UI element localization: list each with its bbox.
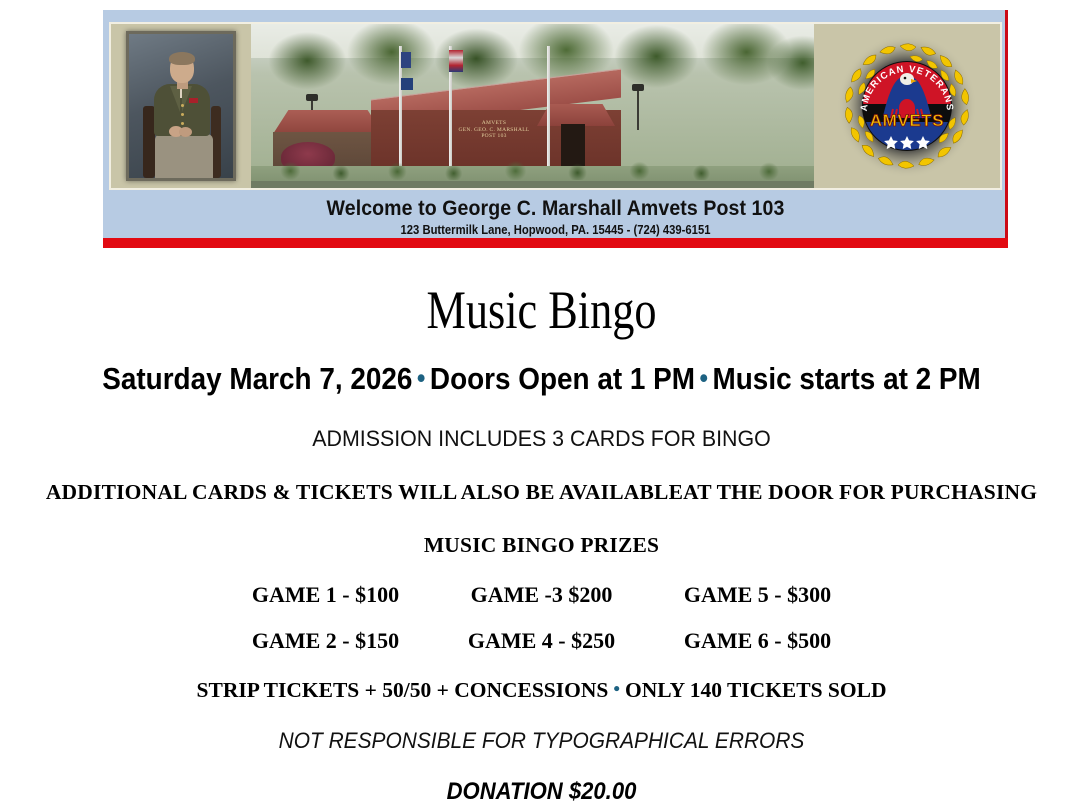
donation-amount: DONATION $20.00 [43,777,1039,807]
portrait-medal-ribbon [189,98,198,103]
prize-row: GAME 1 - $100 GAME -3 $200 GAME 5 - $300 [0,583,1083,607]
roof-left-shape [273,110,383,134]
shrub-row-shape [251,150,814,180]
event-date: Saturday March 7, 2026 [102,361,412,396]
prize-cell: GAME -3 $200 [434,583,650,607]
event-title: Music Bingo [97,280,985,340]
event-schedule-line: Saturday March 7, 2026•Doors Open at 1 P… [54,358,1029,399]
tickets-sold-text: ONLY 140 TICKETS SOLD [625,678,886,702]
prizes-heading: MUSIC BINGO PRIZES [0,532,1083,559]
lamp-post-right [637,88,639,130]
disclaimer-note: NOT RESPONSIBLE FOR TYPOGRAPHICAL ERRORS [27,727,1056,755]
flag-blue-upper [401,52,411,68]
portrait-pane [111,24,251,188]
strip-tickets-text: STRIP TICKETS + 50/50 + CONCESSIONS [197,678,609,702]
prize-cell: GAME 6 - $500 [650,629,866,653]
building-wall-sign: AMVETS GEN. GEO. C. MARSHALL POST 103 [446,120,542,140]
post-address: 123 Buttermilk Lane, Hopwood, PA. 15445 … [148,222,963,238]
bullet-separator-icon: • [608,679,625,700]
logo-pane: AMERICAN VETERANS AMVETS [814,24,1000,188]
prize-cell: GAME 5 - $300 [650,583,866,607]
additional-cards-note: ADDITIONAL CARDS & TICKETS WILL ALSO BE … [0,479,1083,506]
curb-shape [251,181,814,188]
bullet-separator-icon: • [695,363,713,393]
marshall-portrait-image [126,31,236,181]
prize-table: GAME 1 - $100 GAME -3 $200 GAME 5 - $300… [0,583,1083,653]
amvets-wordmark: AMVETS [870,111,944,130]
site-banner: AMVETS GEN. GEO. C. MARSHALL POST 103 [103,10,1008,248]
welcome-heading: Welcome to George C. Marshall Amvets Pos… [135,196,977,222]
music-start-time: Music starts at 2 PM [713,361,981,396]
flyer-content: Music Bingo Saturday March 7, 2026•Doors… [0,248,1083,807]
prize-cell: GAME 1 - $100 [218,583,434,607]
portrait-hand-right [179,127,192,137]
post-building-image: AMVETS GEN. GEO. C. MARSHALL POST 103 [251,24,814,188]
banner-caption: Welcome to George C. Marshall Amvets Pos… [103,196,1008,238]
portrait-button [181,122,184,125]
amvets-logo-icon: AMERICAN VETERANS AMVETS [833,32,981,180]
usa-flag-icon [449,50,463,72]
doors-open-time: Doors Open at 1 PM [430,361,695,396]
building-sign-line: POST 103 [446,133,542,140]
banner-photo-strip: AMVETS GEN. GEO. C. MARSHALL POST 103 [109,22,1002,190]
portrait-button [181,104,184,107]
extras-line: STRIP TICKETS + 50/50 + CONCESSIONS•ONLY… [0,677,1083,703]
portrait-lapel-left [170,86,180,112]
flag-blue-lower [401,78,413,90]
admission-note: ADMISSION INCLUDES 3 CARDS FOR BINGO [27,425,1056,453]
prize-cell: GAME 2 - $150 [218,629,434,653]
bullet-separator-icon: • [412,363,430,393]
portrait-hair-shape [169,52,195,65]
prize-row: GAME 2 - $150 GAME 4 - $250 GAME 6 - $50… [0,629,1083,653]
lamp-head-left [306,94,318,101]
portrait-button [181,113,184,116]
banner-red-bar [103,238,1008,248]
portrait-legs-shape [155,134,213,178]
lamp-head-right [632,84,644,91]
prize-cell: GAME 4 - $250 [434,629,650,653]
